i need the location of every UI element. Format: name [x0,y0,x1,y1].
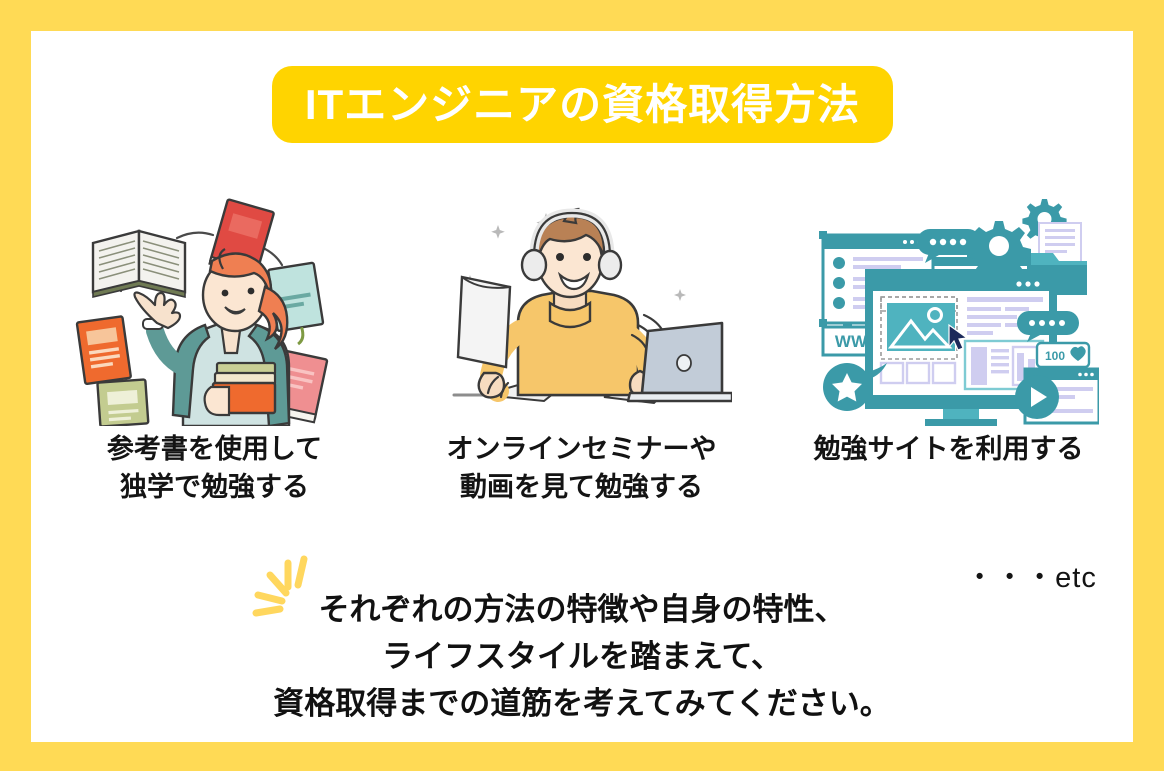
woman-laptop-svg [432,191,732,426]
caption-textbook-line1: 参考書を使用して [107,430,322,468]
illustration-woman-headphones-laptop [432,191,732,426]
likes-count-label: 100 [1044,349,1064,363]
illustration-web-design-monitor: WWW [799,191,1099,426]
title-badge: ITエンジニアの資格取得方法 [272,66,893,143]
caption-seminar: オンラインセミナーや 動画を見て勉強する [447,430,717,507]
outro-line-3: 資格取得までの道筋を考えてみてください。 [31,680,1133,727]
slide-canvas: ITエンジニアの資格取得方法 [31,31,1133,742]
page-title: ITエンジニアの資格取得方法 [305,84,860,126]
illustration-girl-with-books [65,191,365,426]
card-website: WWW [765,191,1132,531]
caption-seminar-line1: オンラインセミナーや [447,430,717,468]
card-seminar: オンラインセミナーや 動画を見て勉強する [398,191,765,531]
caption-textbook-line2: 独学で勉強する [107,468,322,506]
card-textbook: 参考書を使用して 独学で勉強する [31,191,398,531]
caption-website: 勉強サイトを利用する [814,430,1084,468]
web-design-svg: WWW [799,191,1099,426]
caption-textbook: 参考書を使用して 独学で勉強する [107,430,322,507]
methods-row: 参考書を使用して 独学で勉強する [31,191,1133,531]
caption-seminar-line2: 動画を見て勉強する [447,468,717,506]
caption-website-line1: 勉強サイトを利用する [814,430,1084,468]
outro-paragraph: それぞれの方法の特徴や自身の特性、 ライフスタイルを踏まえて、 資格取得までの道… [31,586,1133,727]
outro-line-2: ライフスタイルを踏まえて、 [31,633,1133,680]
girl-with-books-svg [65,191,365,426]
outro-line-1: それぞれの方法の特徴や自身の特性、 [31,586,1133,633]
